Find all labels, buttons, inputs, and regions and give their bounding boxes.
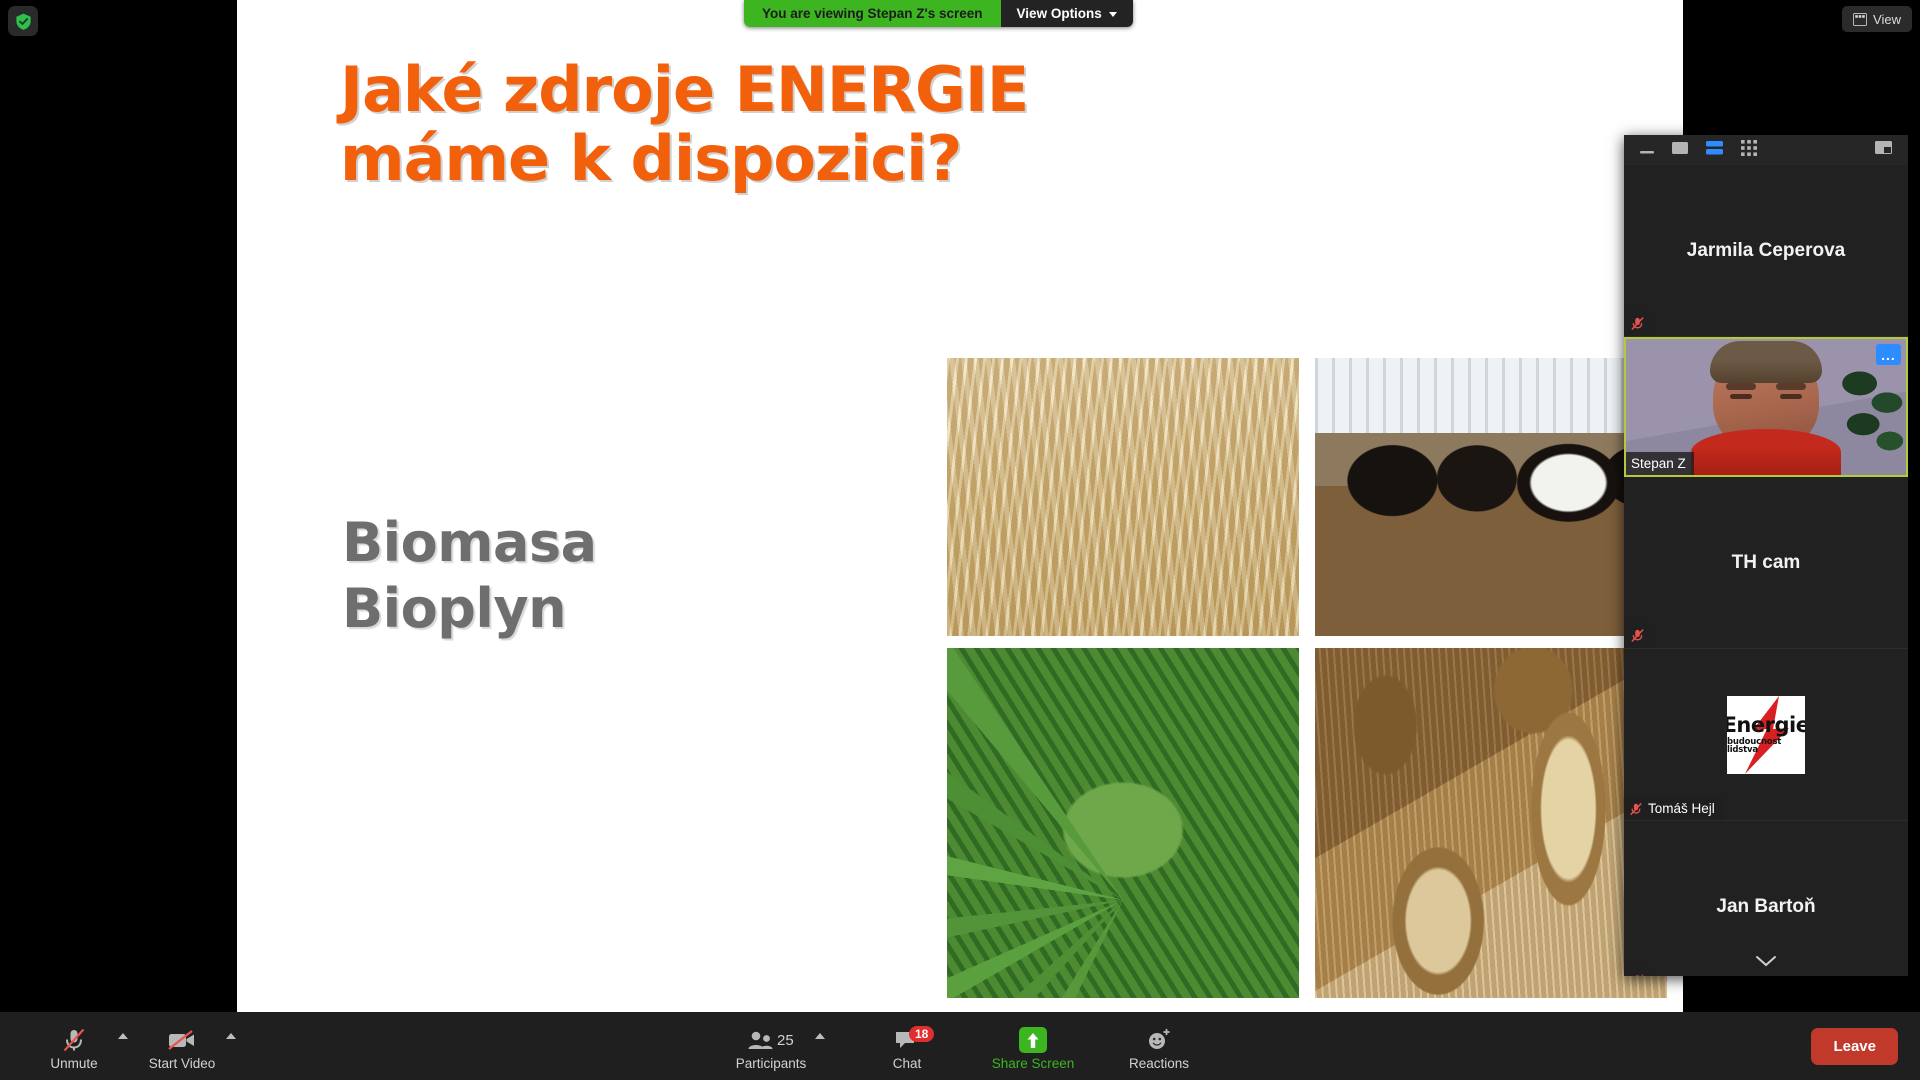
view-button-label: View xyxy=(1873,12,1901,27)
minimize-icon[interactable] xyxy=(1640,141,1654,159)
mic-off-icon xyxy=(1624,622,1650,648)
chat-label: Chat xyxy=(893,1056,922,1071)
share-screen-label: Share Screen xyxy=(992,1056,1075,1071)
participant-name: Jan Bartoň xyxy=(1716,896,1815,918)
slide-title: Jaké zdroje ENERGIE máme k dispozici? xyxy=(340,55,1240,194)
participant-avatar: Energie budoucnost lidstva xyxy=(1727,696,1805,774)
reactions-label: Reactions xyxy=(1129,1056,1189,1071)
toolbar-left-group: Unmute Start Video xyxy=(0,1021,234,1071)
gallery-view-icon[interactable] xyxy=(1741,140,1757,161)
start-video-button[interactable]: Start Video xyxy=(130,1021,234,1071)
participant-tile-jarmila-ceperova[interactable]: Jarmila Ceperova xyxy=(1624,165,1908,337)
unmute-label: Unmute xyxy=(50,1056,97,1071)
dairy-cows-photo xyxy=(1315,358,1667,636)
unmute-button[interactable]: Unmute xyxy=(22,1021,126,1071)
participants-count: 25 xyxy=(777,1032,794,1049)
chat-unread-badge: 18 xyxy=(909,1026,934,1042)
zoom-meeting-window: Jaké zdroje ENERGIE máme k dispozici? Bi… xyxy=(0,0,1920,1080)
participant-name: TH cam xyxy=(1732,552,1801,574)
slide-subtitle-line-2: Bioplyn xyxy=(342,576,597,642)
slide-title-line-2: máme k dispozici? xyxy=(340,124,1240,193)
eye-right xyxy=(1780,394,1802,399)
eyebrow-right xyxy=(1776,383,1806,390)
participant-hair xyxy=(1710,341,1822,383)
eye-left xyxy=(1730,394,1752,399)
chevron-down-icon xyxy=(1755,955,1777,967)
participants-button[interactable]: 25 Participants xyxy=(719,1021,823,1071)
screen-share-banner: You are viewing Stepan Z's screen View O… xyxy=(744,0,1133,27)
slide-photo-grid xyxy=(947,358,1683,1012)
participant-name-label: Stepan Z xyxy=(1626,452,1694,475)
reactions-button[interactable]: Reactions xyxy=(1117,1021,1201,1071)
chat-button[interactable]: 18 Chat xyxy=(865,1021,949,1071)
mic-off-icon xyxy=(1629,802,1643,816)
layout-grid-icon xyxy=(1853,13,1867,26)
filmstrip-scroll-down-button[interactable] xyxy=(1624,948,1908,974)
wood-briquettes-photo xyxy=(1315,648,1667,998)
meeting-toolbar: Unmute Start Video xyxy=(0,1012,1920,1080)
participant-name-label: Tomáš Hejl xyxy=(1624,797,1723,820)
chat-icon: 18 xyxy=(894,1027,920,1053)
view-options-button[interactable]: View Options xyxy=(1001,0,1133,27)
slide-subtitle: Biomasa Bioplyn xyxy=(342,510,597,642)
hemp-plant-photo xyxy=(947,648,1299,998)
wheat-field-photo xyxy=(947,358,1299,636)
video-options-caret-icon[interactable] xyxy=(226,1033,236,1039)
participant-tile-tomas-hejl[interactable]: Energie budoucnost lidstva Tomáš Hejl xyxy=(1624,649,1908,821)
participant-name: Jarmila Ceperova xyxy=(1687,240,1845,262)
participant-name: Stepan Z xyxy=(1631,456,1686,471)
start-video-label: Start Video xyxy=(149,1056,216,1071)
restore-window-icon[interactable] xyxy=(1672,141,1688,159)
popout-icon[interactable] xyxy=(1875,141,1892,159)
filmstrip-header xyxy=(1624,135,1908,165)
avatar-logo-subtitle: budoucnost lidstva xyxy=(1727,738,1805,755)
video-off-icon xyxy=(167,1027,197,1053)
slide-subtitle-line-1: Biomasa xyxy=(342,510,597,576)
participant-shirt xyxy=(1691,429,1841,475)
viewing-notice: You are viewing Stepan Z's screen xyxy=(744,0,1001,27)
leave-meeting-button[interactable]: Leave xyxy=(1811,1028,1898,1065)
participant-more-options-button[interactable]: ... xyxy=(1876,344,1901,365)
participants-options-caret-icon[interactable] xyxy=(815,1033,825,1039)
share-screen-icon xyxy=(1019,1027,1047,1053)
participants-label: Participants xyxy=(736,1056,807,1071)
audio-options-caret-icon[interactable] xyxy=(118,1033,128,1039)
participant-tile-stepan-z[interactable]: ... Stepan Z xyxy=(1624,337,1908,477)
security-shield-badge[interactable] xyxy=(8,6,38,36)
background-plant xyxy=(1838,357,1908,477)
slide-title-line-1: Jaké zdroje ENERGIE xyxy=(340,55,1240,124)
avatar-logo-word: Energie xyxy=(1727,715,1805,736)
mic-off-icon xyxy=(1624,310,1650,336)
shared-screen-content: Jaké zdroje ENERGIE máme k dispozici? Bi… xyxy=(237,0,1683,1012)
view-options-label: View Options xyxy=(1017,6,1102,21)
toolbar-center-group: 25 Participants 18 Chat xyxy=(719,1021,1201,1071)
participant-tiles[interactable]: Jarmila Ceperova xyxy=(1624,165,1908,976)
view-layout-button[interactable]: View xyxy=(1842,6,1912,32)
video-filmstrip-panel: Jarmila Ceperova xyxy=(1624,135,1908,976)
share-screen-button[interactable]: Share Screen xyxy=(991,1021,1075,1071)
participant-name: Tomáš Hejl xyxy=(1648,801,1715,816)
participants-icon: 25 xyxy=(747,1027,795,1053)
reactions-icon xyxy=(1146,1027,1172,1053)
microphone-off-icon xyxy=(61,1027,87,1053)
chevron-down-icon xyxy=(1109,12,1117,17)
share-screen-icon-box xyxy=(1019,1027,1047,1053)
participant-tile-th-cam[interactable]: TH cam xyxy=(1624,477,1908,649)
eyebrow-left xyxy=(1726,383,1756,390)
toolbar-right-group: Leave xyxy=(1811,1028,1898,1065)
shield-check-icon xyxy=(14,12,33,31)
speaker-view-icon[interactable] xyxy=(1706,141,1723,160)
